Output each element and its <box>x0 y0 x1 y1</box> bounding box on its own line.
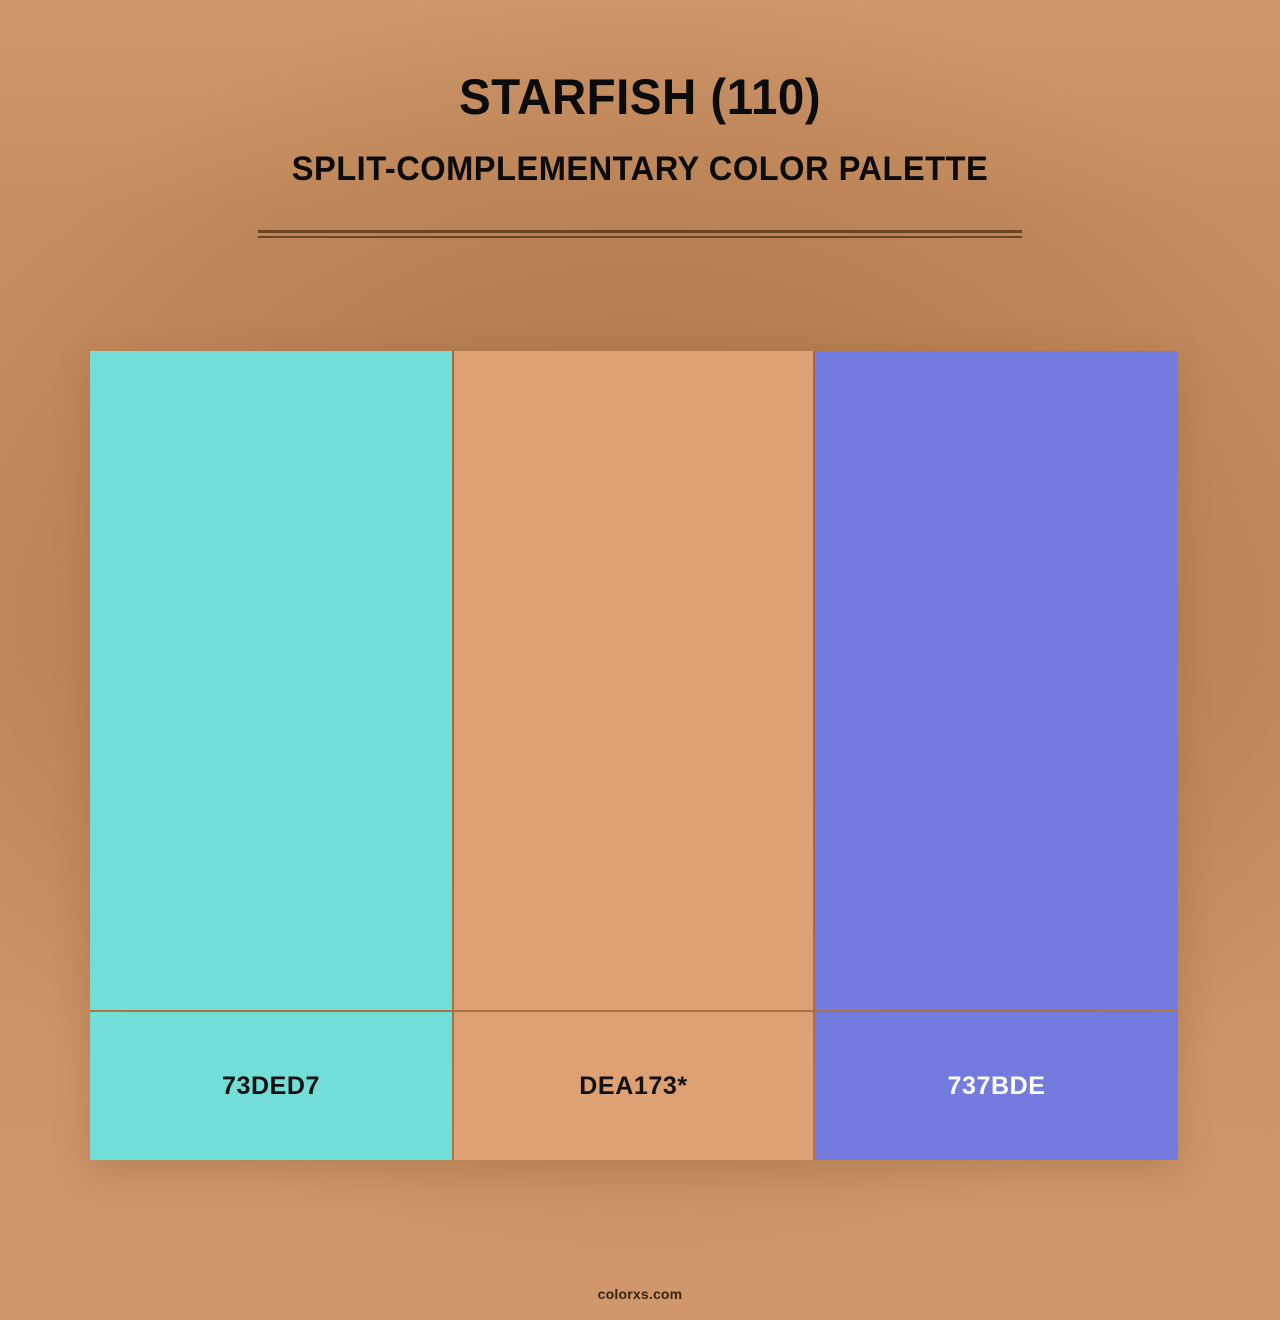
divider-line-top <box>258 230 1022 233</box>
color-palette: 73DED7 DEA173* 737BDE <box>90 351 1178 1160</box>
color-label-strip-3[interactable]: 737BDE <box>815 1012 1178 1160</box>
page-subtitle: SPLIT-COMPLEMENTARY COLOR PALETTE <box>26 122 1255 186</box>
page-title: STARFISH (110) <box>32 0 1248 122</box>
footer-site-label: colorxs.com <box>0 1286 1280 1302</box>
palette-column-3[interactable]: 737BDE <box>815 351 1178 1160</box>
color-swatch-2[interactable] <box>454 351 813 1010</box>
color-hex-label-2: DEA173* <box>579 1072 687 1101</box>
divider-line-bottom <box>258 236 1022 238</box>
palette-column-1[interactable]: 73DED7 <box>90 351 452 1160</box>
palette-column-2[interactable]: DEA173* <box>452 351 815 1160</box>
color-swatch-1[interactable] <box>90 351 452 1010</box>
color-swatch-3[interactable] <box>815 351 1178 1010</box>
color-label-strip-2[interactable]: DEA173* <box>454 1012 813 1160</box>
palette-page: STARFISH (110) SPLIT-COMPLEMENTARY COLOR… <box>0 0 1280 1320</box>
page-header: STARFISH (110) SPLIT-COMPLEMENTARY COLOR… <box>0 0 1280 186</box>
header-divider <box>258 230 1022 238</box>
color-label-strip-1[interactable]: 73DED7 <box>90 1012 452 1160</box>
color-hex-label-3: 737BDE <box>947 1072 1045 1101</box>
color-hex-label-1: 73DED7 <box>222 1072 320 1101</box>
